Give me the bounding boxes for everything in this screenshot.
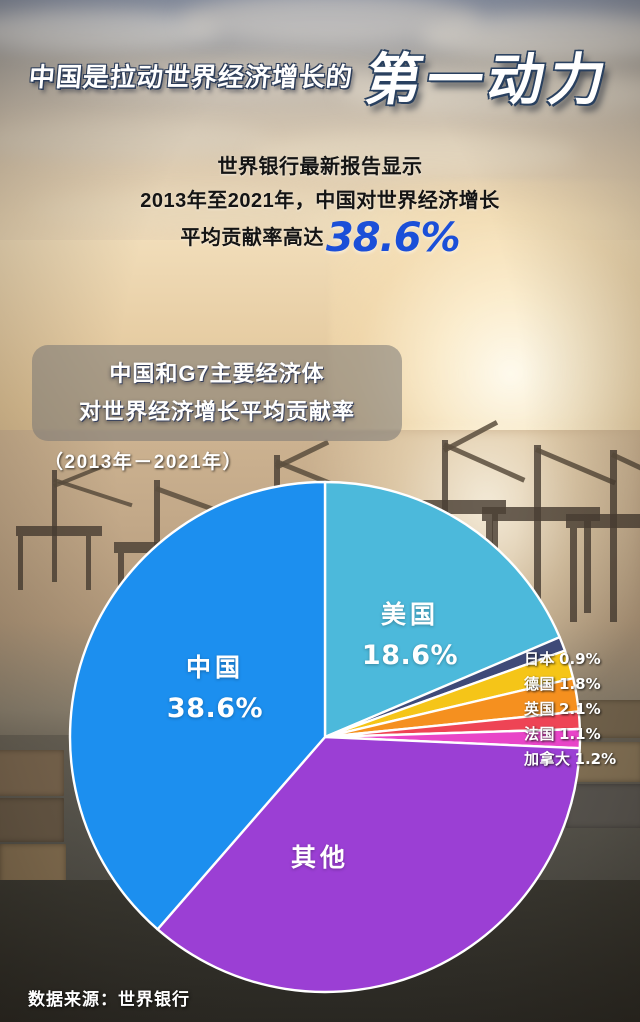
legend-item-uk: 英国 2.1%	[524, 698, 640, 723]
legend-item-japan-value: 0.9%	[559, 650, 601, 668]
legend-item-japan-name: 日本	[524, 648, 555, 669]
legend-item-germany-name: 德国	[524, 673, 555, 694]
infographic-canvas: 中国是拉动世界经济增长的 第一动力 世界银行最新报告显示 2013年至2021年…	[0, 0, 640, 1022]
legend-item-france: 法国 1.1%	[524, 723, 640, 748]
pie-chart-svg	[0, 0, 640, 1022]
legend-item-france-name: 法国	[524, 723, 555, 744]
pie-slice-group	[70, 482, 580, 992]
legend-item-france-value: 1.1%	[559, 725, 601, 743]
data-source-note: 数据来源：世界银行	[28, 985, 190, 1010]
legend-item-japan: 日本 0.9%	[524, 648, 640, 673]
legend-item-uk-value: 2.1%	[559, 700, 601, 718]
pie-chart: 中国 38.6% 美国 18.6% 其他	[0, 0, 640, 1022]
legend-item-canada-value: 1.2%	[575, 750, 617, 768]
legend-item-uk-name: 英国	[524, 698, 555, 719]
legend-item-canada: 加拿大 1.2%	[524, 748, 640, 773]
legend-item-canada-name: 加拿大	[524, 748, 571, 769]
legend-item-germany-value: 1.8%	[559, 675, 601, 693]
legend-item-germany: 德国 1.8%	[524, 673, 640, 698]
pie-callout-legend: 日本 0.9% 德国 1.8% 英国 2.1% 法国 1.1% 加拿大 1.2%	[524, 648, 640, 773]
